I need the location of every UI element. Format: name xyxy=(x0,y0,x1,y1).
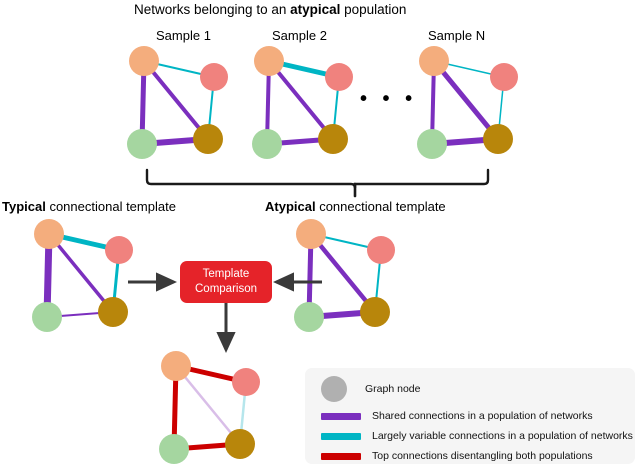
graph-node-gold xyxy=(98,297,128,327)
legend-label-graph-node: Graph node xyxy=(365,383,420,395)
graph-node-gold xyxy=(193,124,223,154)
cyan-line-icon xyxy=(321,433,361,440)
graph-sample-n xyxy=(417,46,518,159)
graph-node-pink xyxy=(232,368,260,396)
graph-typical-template xyxy=(32,219,133,332)
legend-label-variable: Largely variable connections in a popula… xyxy=(372,430,633,442)
template-comparison-box[interactable]: Template Comparison xyxy=(180,261,272,303)
graph-node-icon xyxy=(321,376,347,402)
graph-node-green xyxy=(32,302,62,332)
graph-node-orange xyxy=(419,46,449,76)
graph-node-gold xyxy=(360,297,390,327)
legend-label-top: Top connections disentangling both popul… xyxy=(372,450,593,462)
graph-node-pink xyxy=(200,63,228,91)
graph-node-orange xyxy=(254,46,284,76)
graph-difference-graph xyxy=(159,351,260,464)
graph-node-green xyxy=(159,434,189,464)
graph-node-gold xyxy=(318,124,348,154)
figure-canvas: Networks belonging to an atypical popula… xyxy=(0,0,640,466)
graph-sample-1 xyxy=(127,46,228,159)
graph-node-gold xyxy=(225,429,255,459)
samples-brace xyxy=(147,170,488,196)
graph-node-pink xyxy=(325,63,353,91)
graph-node-green xyxy=(417,129,447,159)
graph-node-orange xyxy=(161,351,191,381)
graph-sample-2 xyxy=(252,46,353,159)
graph-node-pink xyxy=(105,236,133,264)
graph-node-green xyxy=(252,129,282,159)
graph-node-pink xyxy=(490,63,518,91)
legend-label-shared: Shared connections in a population of ne… xyxy=(372,410,593,422)
graph-node-orange xyxy=(34,219,64,249)
template-comparison-line2: Comparison xyxy=(195,282,257,297)
legend-item-graph-node: Graph node xyxy=(321,376,420,402)
legend-item-top: Top connections disentangling both popul… xyxy=(321,450,593,462)
graph-node-green xyxy=(127,129,157,159)
template-comparison-line1: Template xyxy=(203,267,250,282)
graph-node-orange xyxy=(129,46,159,76)
graph-node-gold xyxy=(483,124,513,154)
graph-node-orange xyxy=(296,219,326,249)
graph-node-green xyxy=(294,302,324,332)
graph-atypical-template xyxy=(294,219,395,332)
purple-line-icon xyxy=(321,413,361,420)
red-line-icon xyxy=(321,453,361,460)
legend-item-variable: Largely variable connections in a popula… xyxy=(321,430,633,442)
graph-node-pink xyxy=(367,236,395,264)
legend-panel: Graph node Shared connections in a popul… xyxy=(305,368,635,464)
legend-item-shared: Shared connections in a population of ne… xyxy=(321,410,593,422)
